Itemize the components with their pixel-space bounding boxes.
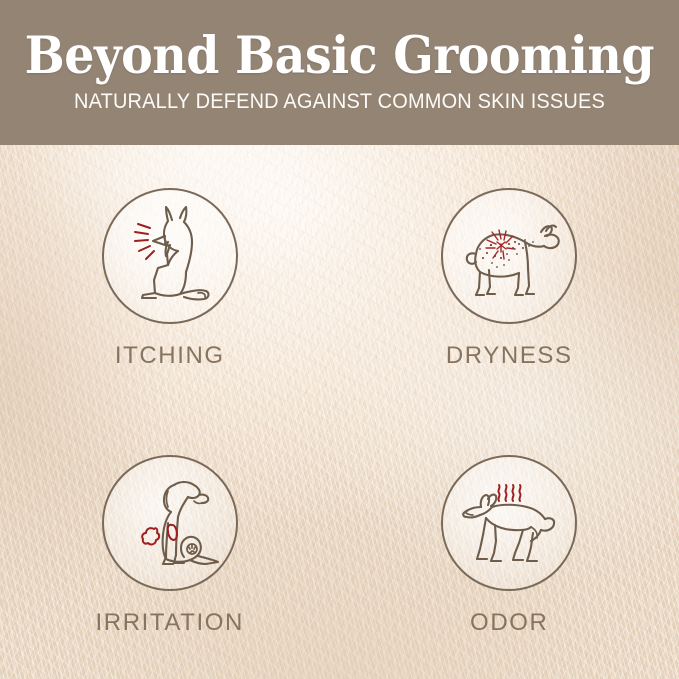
dog-odor-icon xyxy=(449,463,569,583)
feature-grid: ITCHING xyxy=(0,145,679,679)
icon-circle-dryness xyxy=(441,188,577,324)
icon-circle-odor xyxy=(441,455,577,591)
dog-scratching-icon xyxy=(110,196,230,316)
page-subtitle: NATURALLY DEFEND AGAINST COMMON SKIN ISS… xyxy=(74,90,605,114)
icon-circle-itching xyxy=(102,188,238,324)
feature-label-odor: ODOR xyxy=(470,609,548,637)
page-title: Beyond Basic Grooming xyxy=(25,31,654,82)
icon-circle-irritation xyxy=(102,455,238,591)
feature-label-irritation: IRRITATION xyxy=(96,609,244,637)
feature-item-odor: ODOR xyxy=(340,412,679,679)
feature-label-itching: ITCHING xyxy=(115,342,225,370)
feature-item-dryness: DRYNESS xyxy=(340,145,679,412)
feature-item-itching: ITCHING xyxy=(0,145,340,412)
header-banner: Beyond Basic Grooming NATURALLY DEFEND A… xyxy=(0,0,679,145)
feature-label-dryness: DRYNESS xyxy=(446,342,573,370)
feature-item-irritation: IRRITATION xyxy=(0,412,340,679)
dog-flaky-skin-icon xyxy=(449,196,569,316)
dog-irritated-patches-icon xyxy=(110,463,230,583)
product-feature-poster: Beyond Basic Grooming NATURALLY DEFEND A… xyxy=(0,0,679,679)
